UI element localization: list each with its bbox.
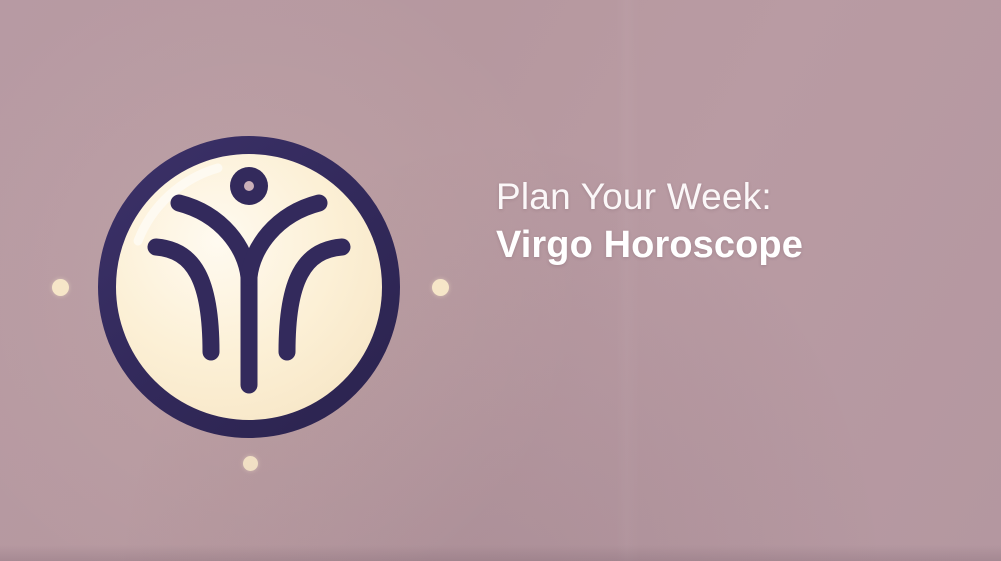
virgo-zodiac-emblem <box>98 136 400 438</box>
headline-line-2: Virgo Horoscope <box>496 226 803 264</box>
decorative-dot-right <box>432 279 449 296</box>
headline-line-1: Plan Your Week: <box>496 178 803 215</box>
decorative-dot-left <box>52 279 69 296</box>
decorative-dot-bottom <box>243 456 258 471</box>
glyph-head-dot-core <box>244 181 254 191</box>
headline: Plan Your Week: Virgo Horoscope <box>496 178 803 264</box>
slide-canvas: Plan Your Week: Virgo Horoscope <box>0 0 1001 561</box>
